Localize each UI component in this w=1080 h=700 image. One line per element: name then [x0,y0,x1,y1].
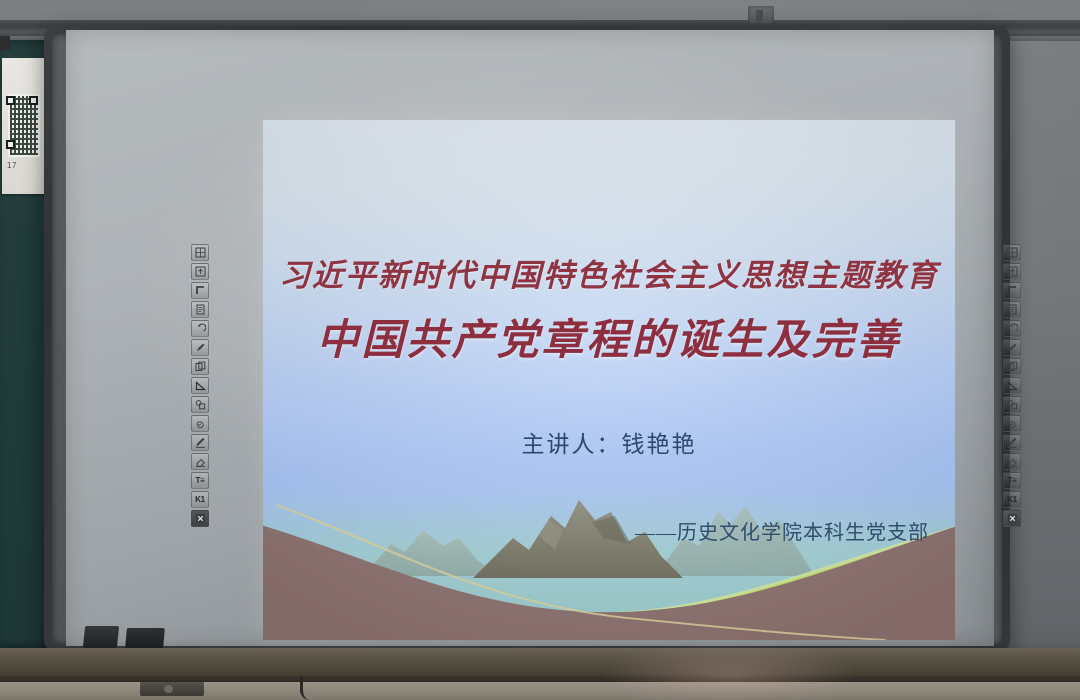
tray-bracket [140,682,204,696]
slide-title-line-1: 习近平新时代中国特色社会主义思想主题教育 [263,250,955,295]
shapes-icon[interactable] [1003,396,1021,413]
classroom-scene: 17 [0,0,1080,700]
arrow-up-box-icon[interactable] [191,263,209,280]
whiteboard-toolbar-left[interactable]: T≡K1 [189,244,211,527]
angle-ruler-icon[interactable] [1003,377,1021,394]
eraser-icon[interactable] [1003,453,1021,470]
text-tool-icon[interactable]: T≡ [191,472,209,489]
copy-icon[interactable] [191,358,209,375]
eraser-icon[interactable] [191,453,209,470]
highlighter-icon[interactable] [1003,434,1021,451]
spiral-icon[interactable] [1003,415,1021,432]
close-icon[interactable] [191,510,209,527]
slide-presenter: 主讲人：钱艳艳 [263,425,955,459]
page-icon[interactable] [1003,301,1021,318]
arrow-up-box-icon[interactable] [1003,263,1021,280]
keyboard-k1-icon[interactable]: K1 [1003,491,1021,508]
board-eraser[interactable] [83,626,119,648]
chalk-tray-ledge [0,648,1080,678]
undo-icon[interactable] [191,320,209,337]
copy-icon[interactable] [1003,358,1021,375]
grid-icon[interactable] [191,244,209,261]
page-icon[interactable] [191,301,209,318]
slide-attribution: ——历史文化学院本科生党支部 [635,516,929,545]
keyboard-k1-icon[interactable]: K1 [191,491,209,508]
hanging-cable [300,676,310,700]
undo-icon[interactable] [1003,320,1021,337]
slide-title-line-2: 中国共产党章程的诞生及完善 [263,306,955,367]
angle-ruler-icon[interactable] [191,377,209,394]
shapes-icon[interactable] [191,396,209,413]
chalkboard-edge [0,36,10,50]
highlighter-icon[interactable] [191,434,209,451]
projected-slide: 习近平新时代中国特色社会主义思想主题教育 中国共产党章程的诞生及完善 主讲人：钱… [263,120,955,640]
pen-tip-icon[interactable] [1003,339,1021,356]
qr-eye-bottom-left [6,140,15,149]
corner-select-icon[interactable] [191,282,209,299]
close-icon[interactable] [1003,510,1021,527]
corner-select-icon[interactable] [1003,282,1021,299]
wall-sign: 17 [2,58,46,194]
spiral-icon[interactable] [191,415,209,432]
qr-eye-top-left [6,96,15,105]
board-eraser-secondary[interactable] [125,628,165,648]
qr-eye-top-right [29,96,38,105]
text-tool-icon[interactable]: T≡ [1003,472,1021,489]
pen-tip-icon[interactable] [191,339,209,356]
whiteboard-surface[interactable]: 习近平新时代中国特色社会主义思想主题教育 中国共产党章程的诞生及完善 主讲人：钱… [66,30,994,646]
sign-number: 17 [7,161,17,170]
grid-icon[interactable] [1003,244,1021,261]
rail-bracket-icon [748,6,774,24]
slide-text-layer: 习近平新时代中国特色社会主义思想主题教育 中国共产党章程的诞生及完善 主讲人：钱… [263,120,955,640]
whiteboard-toolbar-right[interactable]: T≡K1 [1001,244,1023,527]
